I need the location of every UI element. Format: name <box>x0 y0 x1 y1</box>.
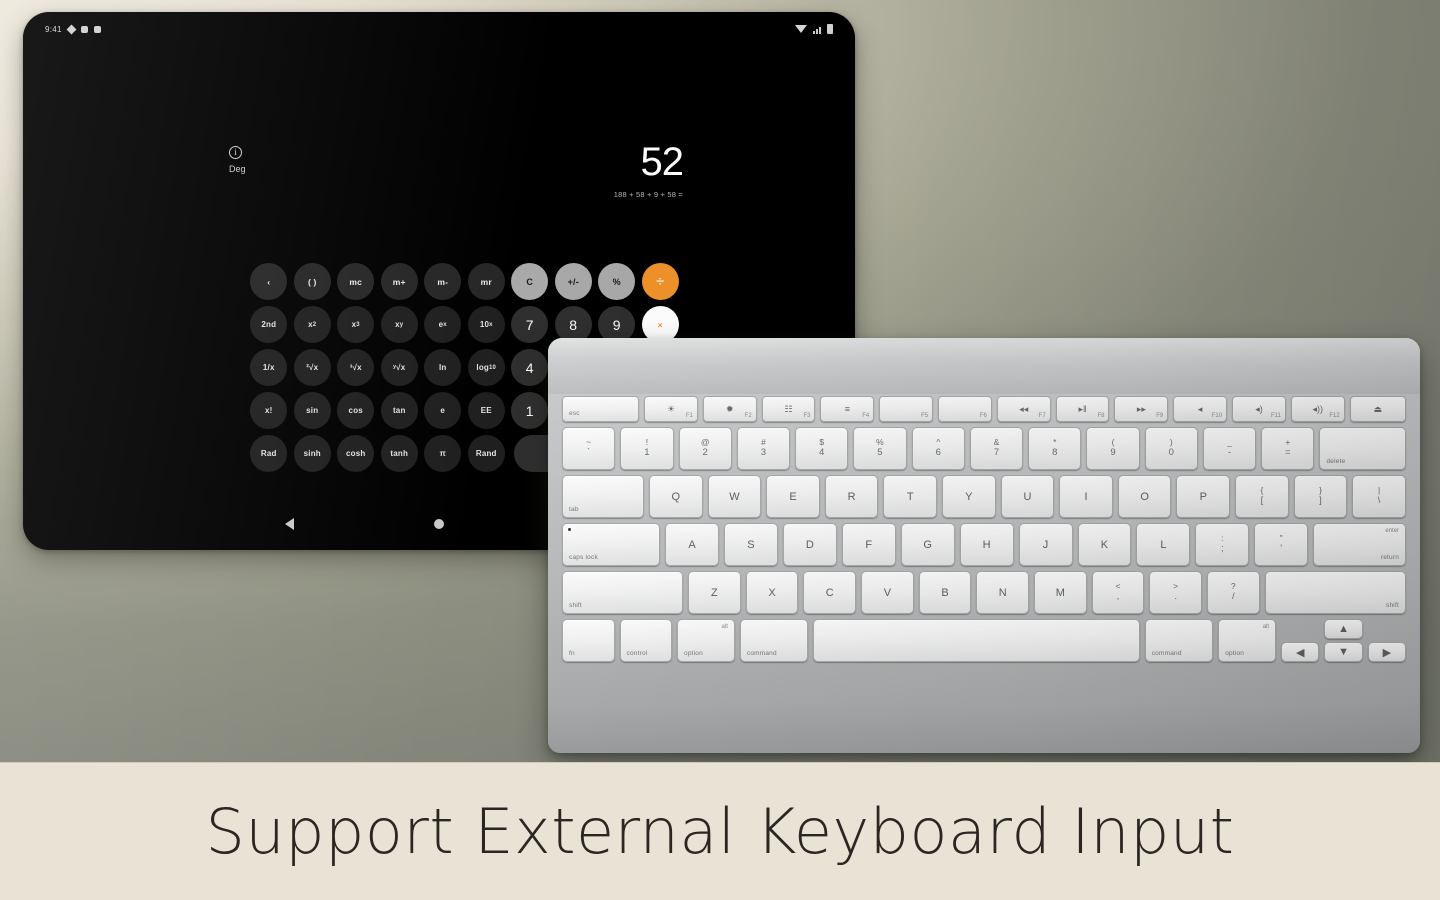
equals-key[interactable]: += <box>1261 427 1314 470</box>
z-key[interactable]: Z <box>688 571 741 614</box>
notification-square-icon <box>94 26 101 33</box>
i-key[interactable]: I <box>1059 475 1113 518</box>
x-cubed-key[interactable]: x3 <box>337 306 374 343</box>
comma-key[interactable]: <, <box>1092 571 1145 614</box>
bracket-right-key[interactable]: }] <box>1294 475 1348 518</box>
y-root-key[interactable]: ʸ√x <box>381 349 418 386</box>
brightness-down-key[interactable]: ☀F1 <box>644 396 698 422</box>
option-right-key[interactable]: altoption <box>1218 619 1276 662</box>
product-scene-photo: 9:41 i Deg 52 <box>0 0 1440 762</box>
digit-0-key[interactable]: )0 <box>1145 427 1198 470</box>
w-key[interactable]: W <box>708 475 762 518</box>
caps-lock-key[interactable]: caps lock <box>562 523 660 566</box>
numrow: ~`!1@2#3$4%5^6&7*8(9)0_-+=delete <box>562 427 1406 470</box>
return-key[interactable]: enterreturn <box>1313 523 1406 566</box>
modrow: fncontrolaltoptioncommandcommandaltoptio… <box>562 619 1406 662</box>
caption-headline: Support External Keyboard Input <box>206 795 1235 868</box>
hyperbolic-cosine-key[interactable]: cosh <box>337 435 374 472</box>
play-pause-key[interactable]: ▸‖F8 <box>1056 396 1110 422</box>
clear-key[interactable]: C <box>511 263 548 300</box>
status-bar-right <box>795 24 833 34</box>
wifi-icon <box>795 25 807 33</box>
tab-key[interactable]: tab <box>562 475 644 518</box>
y-key[interactable]: Y <box>942 475 996 518</box>
qwertyrow: tabQWERTYUIOP{[}]|\ <box>562 475 1406 518</box>
result-area: 52 188 + 58 + 9 + 58 = <box>614 142 683 199</box>
log-base-10-key[interactable]: log10 <box>468 349 505 386</box>
digit-1-key[interactable]: !1 <box>620 427 673 470</box>
slash-key[interactable]: ?/ <box>1207 571 1260 614</box>
signal-icon <box>813 25 821 34</box>
back-icon[interactable] <box>285 518 294 530</box>
digit-3-key[interactable]: #3 <box>737 427 790 470</box>
notification-diamond-icon <box>66 24 76 34</box>
angle-mode-indicator: i Deg <box>229 146 246 174</box>
random-key[interactable]: Rand <box>468 435 505 472</box>
info-badge-icon[interactable]: i <box>229 146 242 159</box>
shift-right-key[interactable]: shift <box>1265 571 1406 614</box>
sign-toggle-key[interactable]: +/- <box>555 263 592 300</box>
s-key[interactable]: S <box>724 523 778 566</box>
ten-power-x-key[interactable]: 10x <box>468 306 505 343</box>
q-key[interactable]: Q <box>649 475 703 518</box>
status-bar: 9:41 <box>23 12 855 46</box>
volume-down-key[interactable]: ◂)F11 <box>1232 396 1286 422</box>
fnrow: esc☀F1✹F2☷F3≡F4F5F6◂◂F7▸‖F8▸▸F9◂F10◂)F11… <box>562 396 1406 422</box>
r-key[interactable]: R <box>825 475 879 518</box>
memory-clear-key[interactable]: mc <box>337 263 374 300</box>
euler-key[interactable]: e <box>424 392 461 429</box>
command-left-key[interactable]: command <box>740 619 808 662</box>
memory-add-key[interactable]: m+ <box>381 263 418 300</box>
e-power-x-key[interactable]: ex <box>424 306 461 343</box>
fn-key[interactable]: fn <box>562 619 615 662</box>
square-root-key[interactable]: ²√x <box>294 349 331 386</box>
status-bar-left: 9:41 <box>45 25 101 34</box>
calculator-display: i Deg 52 188 + 58 + 9 + 58 = <box>229 146 683 214</box>
next-track-key[interactable]: ▸▸F9 <box>1114 396 1168 422</box>
quote-key[interactable]: "' <box>1254 523 1308 566</box>
volume-up-key[interactable]: ◂))F12 <box>1291 396 1345 422</box>
tilde-key[interactable]: ~` <box>562 427 615 470</box>
x-power-y-key[interactable]: xy <box>381 306 418 343</box>
second-function-key[interactable]: 2nd <box>250 306 287 343</box>
x-squared-key[interactable]: x2 <box>294 306 331 343</box>
back-key[interactable]: ‹ <box>250 263 287 300</box>
caps-lock-led-icon <box>568 528 571 531</box>
digit-4-key[interactable]: 4 <box>511 349 548 386</box>
status-bar-clock: 9:41 <box>45 25 62 34</box>
option-left-key[interactable]: altoption <box>677 619 735 662</box>
k-key[interactable]: K <box>1078 523 1132 566</box>
arrow-right-key[interactable]: ▶ <box>1368 642 1406 662</box>
tangent-key[interactable]: tan <box>381 392 418 429</box>
digit-1-key[interactable]: 1 <box>511 392 548 429</box>
n-key[interactable]: N <box>976 571 1029 614</box>
digit-2-key[interactable]: @2 <box>679 427 732 470</box>
hyperbolic-sine-key[interactable]: sinh <box>294 435 331 472</box>
factorial-key[interactable]: x! <box>250 392 287 429</box>
d-key[interactable]: D <box>783 523 837 566</box>
brightness-up-key[interactable]: ✹F2 <box>703 396 757 422</box>
digit-7-key[interactable]: 7 <box>511 306 548 343</box>
l-key[interactable]: L <box>1136 523 1190 566</box>
arrow-left-key[interactable]: ◀ <box>1281 642 1319 662</box>
cube-root-key[interactable]: ³√x <box>337 349 374 386</box>
g-key[interactable]: G <box>901 523 955 566</box>
pi-key[interactable]: π <box>424 435 461 472</box>
divide-key[interactable]: ÷ <box>642 263 679 300</box>
f6-key[interactable]: F6 <box>938 396 992 422</box>
esc-key[interactable]: esc <box>562 396 639 422</box>
memory-recall-key[interactable]: mr <box>468 263 505 300</box>
external-keyboard: esc☀F1✹F2☷F3≡F4F5F6◂◂F7▸‖F8▸▸F9◂F10◂)F11… <box>548 338 1420 753</box>
digit-9-key[interactable]: (9 <box>1086 427 1139 470</box>
previous-track-key[interactable]: ◂◂F7 <box>997 396 1051 422</box>
arrow-right-slot: ▶ <box>1368 619 1406 662</box>
percent-key[interactable]: % <box>598 263 635 300</box>
angle-mode-label: Deg <box>229 164 246 174</box>
radian-key[interactable]: Rad <box>250 435 287 472</box>
space-key[interactable] <box>813 619 1139 662</box>
launchpad-key[interactable]: ≡F4 <box>820 396 874 422</box>
digit-7-key[interactable]: &7 <box>970 427 1023 470</box>
semicolon-key[interactable]: :; <box>1195 523 1249 566</box>
expression-history: 188 + 58 + 9 + 58 = <box>614 190 683 199</box>
command-right-key[interactable]: command <box>1145 619 1213 662</box>
t-key[interactable]: T <box>883 475 937 518</box>
p-key[interactable]: P <box>1176 475 1230 518</box>
arrow-left-slot: ◀ <box>1281 619 1319 662</box>
m-key[interactable]: M <box>1034 571 1087 614</box>
mute-key[interactable]: ◂F10 <box>1173 396 1227 422</box>
c-key[interactable]: C <box>803 571 856 614</box>
arrow-key-cluster: ◀▲▼▶ <box>1281 619 1406 662</box>
eject-key[interactable]: ⏏ <box>1350 396 1406 422</box>
result-value: 52 <box>614 142 683 182</box>
shift-left-key[interactable]: shift <box>562 571 683 614</box>
backslash-key[interactable]: |\ <box>1352 475 1406 518</box>
b-key[interactable]: B <box>919 571 972 614</box>
e-key[interactable]: E <box>766 475 820 518</box>
memory-subtract-key[interactable]: m- <box>424 263 461 300</box>
a-key[interactable]: A <box>665 523 719 566</box>
mission-control-key[interactable]: ☷F3 <box>762 396 816 422</box>
homerow: caps lockASDFGHJKL:;"'enterreturn <box>562 523 1406 566</box>
h-key[interactable]: H <box>960 523 1014 566</box>
delete-key[interactable]: delete <box>1319 427 1406 470</box>
minus-key[interactable]: _- <box>1203 427 1256 470</box>
zxcvrow: shiftZXCVBNM<,>.?/shift <box>562 571 1406 614</box>
parentheses-key[interactable]: ( ) <box>294 263 331 300</box>
caption-banner: Support External Keyboard Input <box>0 762 1440 900</box>
o-key[interactable]: O <box>1118 475 1172 518</box>
notification-dot-icon <box>81 26 88 33</box>
digit-6-key[interactable]: ^6 <box>912 427 965 470</box>
reciprocal-key[interactable]: 1/x <box>250 349 287 386</box>
f-key[interactable]: F <box>842 523 896 566</box>
arrow-down-key[interactable]: ▼ <box>1324 642 1362 662</box>
hyperbolic-tangent-key[interactable]: tanh <box>381 435 418 472</box>
digit-5-key[interactable]: %5 <box>853 427 906 470</box>
digit-8-key[interactable]: *8 <box>1028 427 1081 470</box>
natural-log-key[interactable]: ln <box>424 349 461 386</box>
bracket-left-key[interactable]: {[ <box>1235 475 1289 518</box>
exponent-key[interactable]: EE <box>468 392 505 429</box>
arrow-updown-slot: ▲▼ <box>1324 619 1362 662</box>
control-key[interactable]: control <box>620 619 673 662</box>
x-key[interactable]: X <box>746 571 799 614</box>
period-key[interactable]: >. <box>1149 571 1202 614</box>
f5-key[interactable]: F5 <box>879 396 933 422</box>
u-key[interactable]: U <box>1001 475 1055 518</box>
arrow-up-key[interactable]: ▲ <box>1324 619 1362 639</box>
keyboard-key-rows: esc☀F1✹F2☷F3≡F4F5F6◂◂F7▸‖F8▸▸F9◂F10◂)F11… <box>562 396 1406 662</box>
digit-4-key[interactable]: $4 <box>795 427 848 470</box>
home-icon[interactable] <box>434 519 444 529</box>
cosine-key[interactable]: cos <box>337 392 374 429</box>
j-key[interactable]: J <box>1019 523 1073 566</box>
v-key[interactable]: V <box>861 571 914 614</box>
battery-icon <box>827 24 833 34</box>
sine-key[interactable]: sin <box>294 392 331 429</box>
